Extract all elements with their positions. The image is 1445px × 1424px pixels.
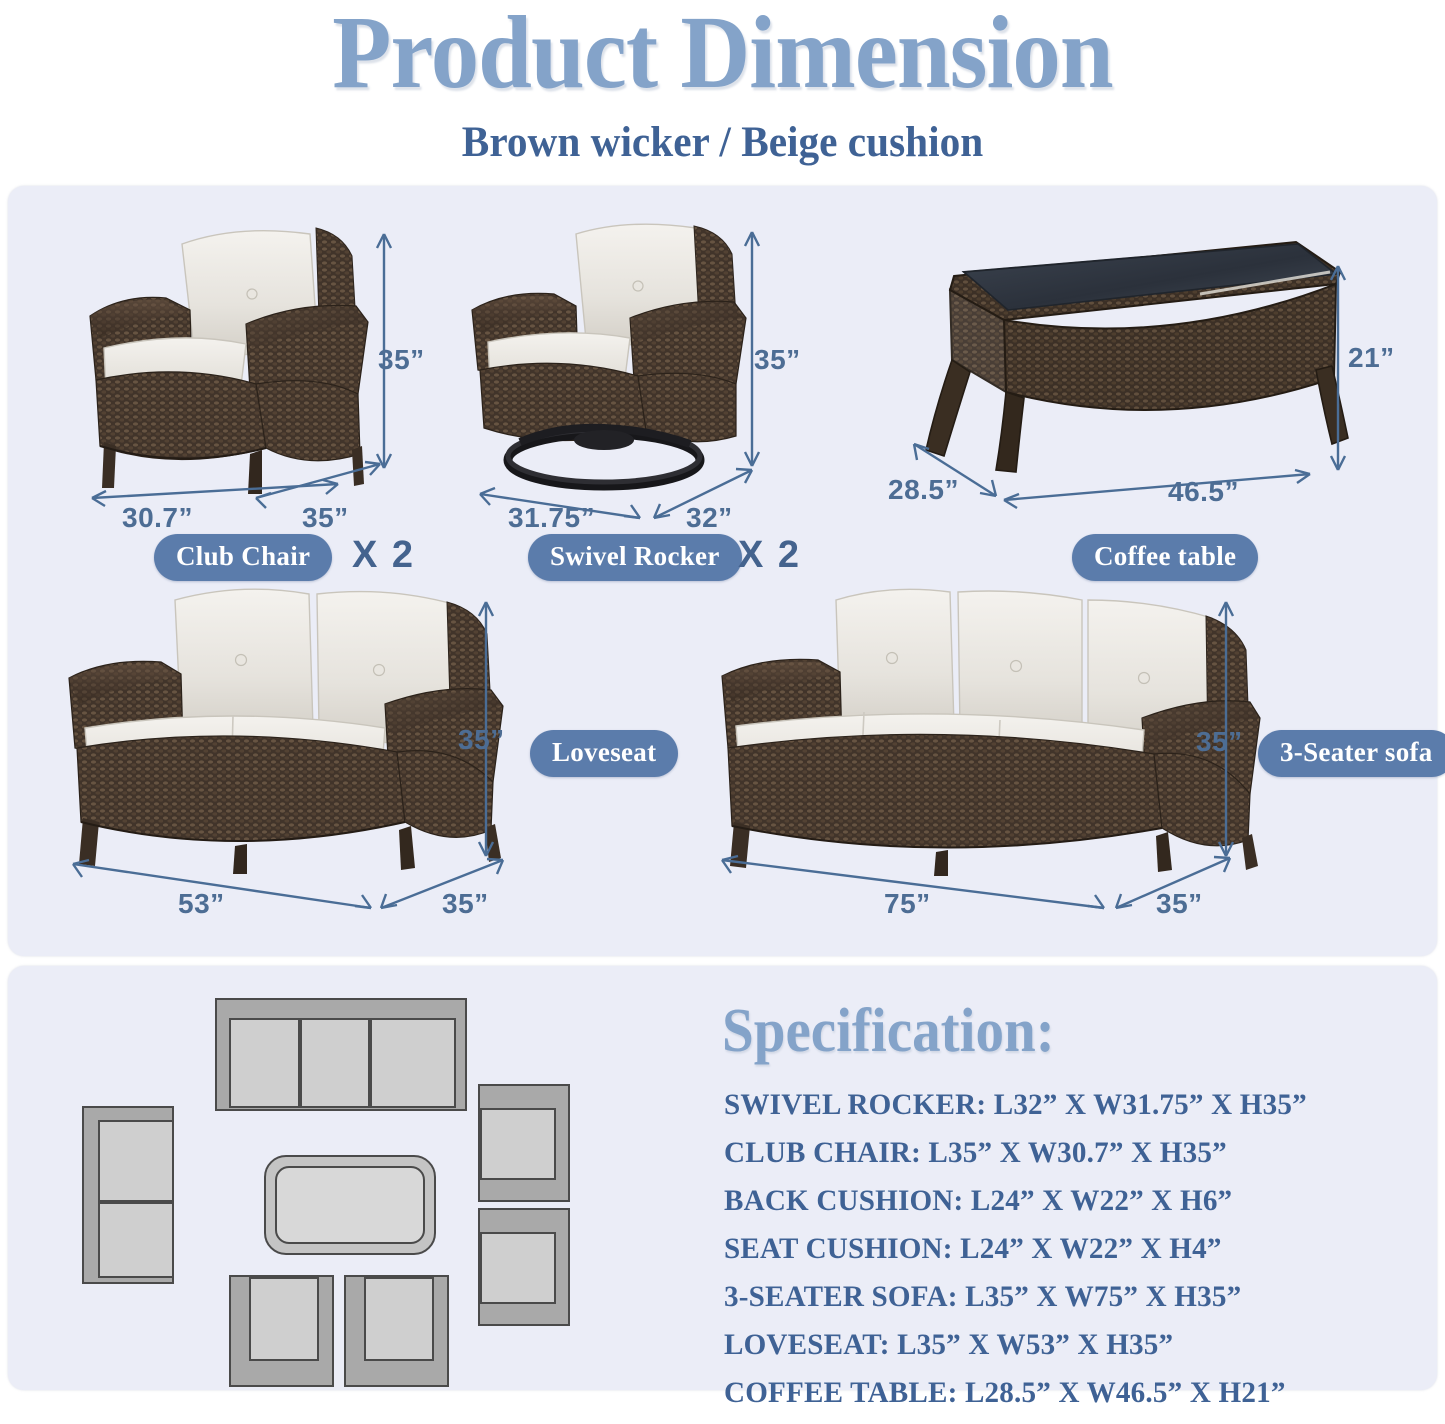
layout-loveseat <box>82 1106 174 1284</box>
spec-line: SEAT CUSHION: L24” X W22” X H4” <box>724 1232 1403 1266</box>
loveseat-width-dim: 53” <box>178 888 225 920</box>
swivel-rocker-height-dim: 35” <box>754 344 801 376</box>
product-dimension-infographic: Product Dimension Brown wicker / Beige c… <box>0 0 1445 1396</box>
three-seater-sofa-depth-dim: 35” <box>1156 888 1203 920</box>
page-subtitle: Brown wicker / Beige cushion <box>29 118 1416 167</box>
club-chair-quantity: X 2 <box>352 534 415 577</box>
top-down-layout-diagram <box>72 988 692 1388</box>
spec-line: BACK CUSHION: L24” X W22” X H6” <box>724 1184 1403 1218</box>
club-chair-label: Club Chair <box>154 534 332 581</box>
three-seater-sofa-width-dim: 75” <box>884 888 931 920</box>
coffee-table-label: Coffee table <box>1072 534 1258 581</box>
layout-swivel-rocker-bottom-left <box>229 1275 334 1387</box>
swivel-rocker-quantity: X 2 <box>738 534 801 577</box>
spec-line: COFFEE TABLE: L28.5” X W46.5” X H21” <box>724 1376 1403 1410</box>
layout-club-chair-right-lower <box>478 1208 570 1326</box>
coffee-table-height-dim: 21” <box>1348 342 1395 374</box>
swivel-rocker-label: Swivel Rocker <box>528 534 742 581</box>
club-chair-height-dim: 35” <box>378 344 425 376</box>
three-seater-sofa-label: 3-Seater sofa <box>1258 730 1445 777</box>
coffee-table-dimension-lines <box>900 420 1340 510</box>
spec-line: 3-SEATER SOFA: L35” X W75” X H35” <box>724 1280 1403 1314</box>
layout-club-chair-right-upper <box>478 1084 570 1202</box>
loveseat-label: Loveseat <box>530 730 678 777</box>
layout-three-seater-sofa <box>215 998 467 1111</box>
header: Product Dimension Brown wicker / Beige c… <box>0 0 1445 167</box>
club-chair-width-dim: 30.7” <box>122 502 193 534</box>
specification-title: Specification: <box>722 996 1055 1067</box>
spec-line: SWIVEL ROCKER: L32” X W31.75” X H35” <box>724 1088 1403 1122</box>
layout-coffee-table <box>264 1155 436 1255</box>
page-title: Product Dimension <box>51 2 1395 104</box>
loveseat-height-dim: 35” <box>458 724 505 756</box>
loveseat-depth-dim: 35” <box>442 888 489 920</box>
coffee-table-width-dim: 46.5” <box>1168 476 1239 508</box>
swivel-rocker-width-dim: 31.75” <box>508 502 595 534</box>
swivel-rocker-depth-dim: 32” <box>686 502 733 534</box>
spec-line: LOVESEAT: L35” X W53” X H35” <box>724 1328 1403 1362</box>
club-chair-depth-dim: 35” <box>302 502 349 534</box>
coffee-table-depth-dim: 28.5” <box>888 474 959 506</box>
three-seater-sofa-height-dim: 35” <box>1196 726 1243 758</box>
spec-line: CLUB CHAIR: L35” X W30.7” X H35” <box>724 1136 1403 1170</box>
layout-swivel-rocker-bottom-right <box>344 1275 449 1387</box>
specification-list: SWIVEL ROCKER: L32” X W31.75” X H35” CLU… <box>724 1088 1424 1424</box>
